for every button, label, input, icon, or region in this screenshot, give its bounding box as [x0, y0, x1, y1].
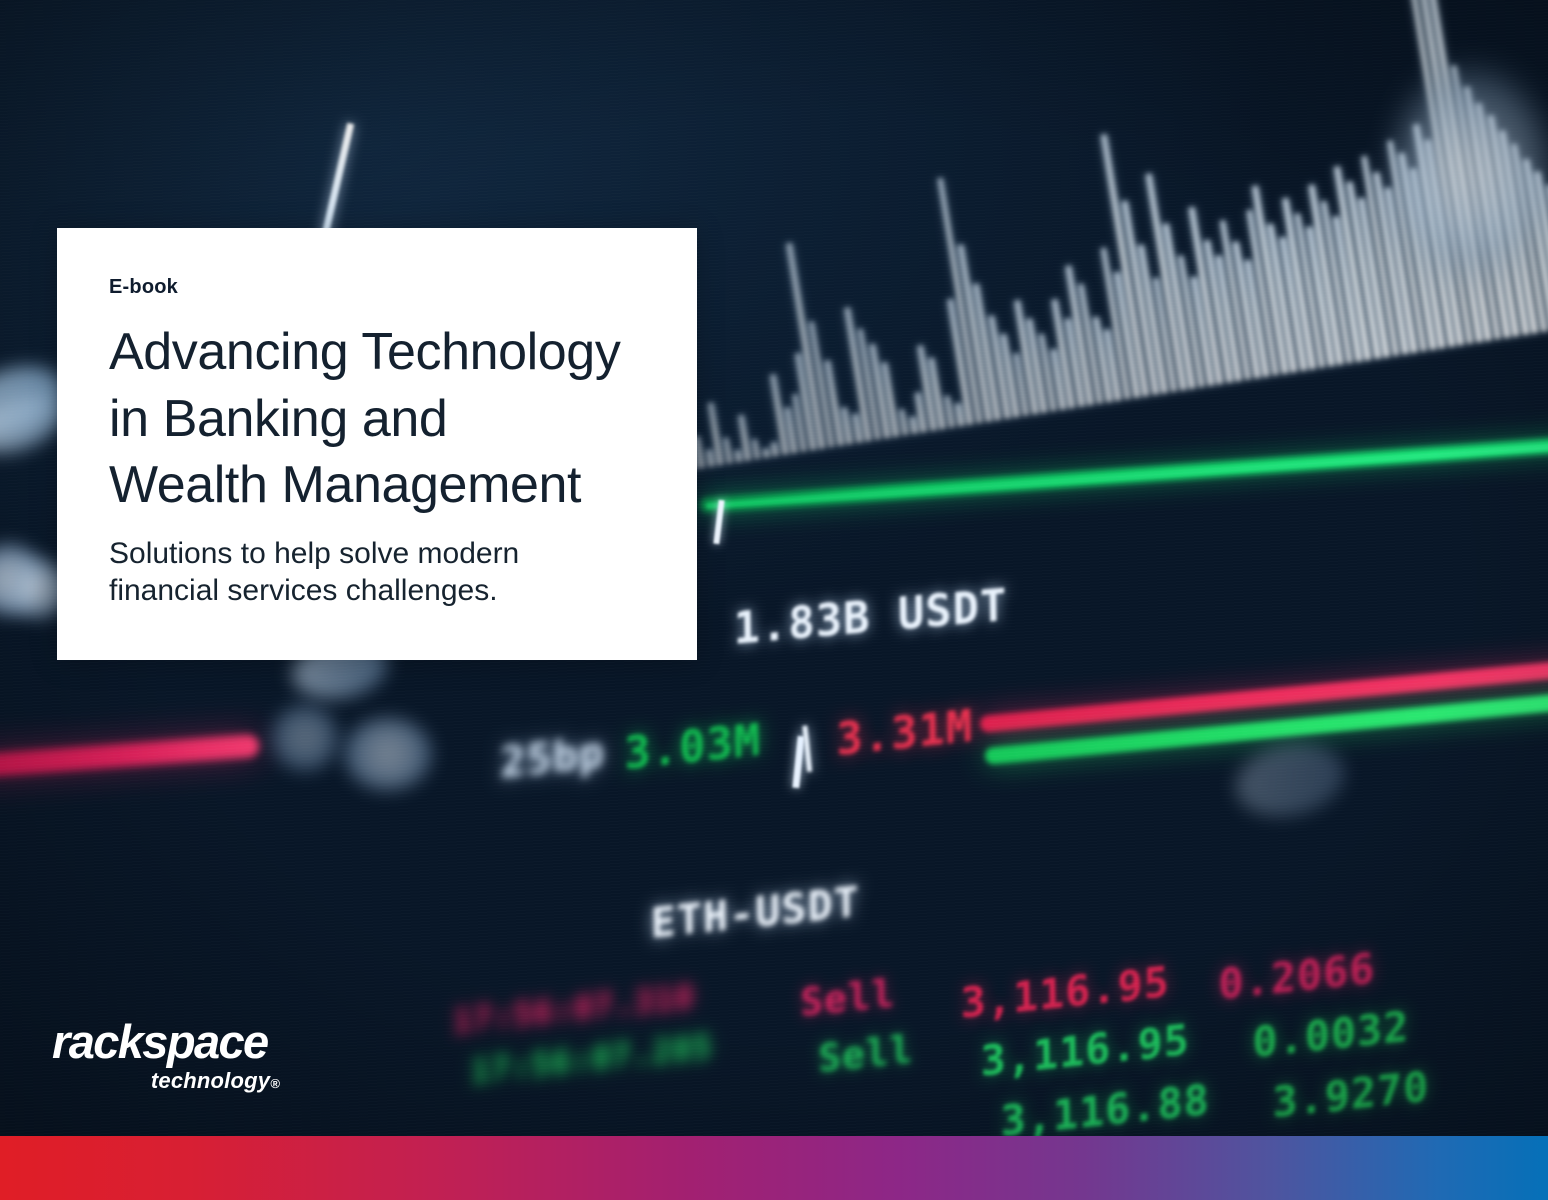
trade-side-green: Sell [818, 1027, 914, 1081]
trade-timestamp-red: 17:56:07.310 [452, 977, 695, 1041]
volume-bar [852, 414, 862, 443]
brand-gradient-bar [0, 1136, 1548, 1200]
page-title-line: Wealth Management [109, 452, 653, 519]
logo-subwordmark: technology® [52, 1070, 282, 1092]
candle-wick-icon [321, 123, 354, 240]
volume-bar [763, 449, 770, 458]
bokeh-blob [1229, 734, 1351, 825]
bokeh-blob [1396, 70, 1546, 270]
volume-bar [734, 450, 742, 462]
page-title-line: in Banking and [109, 386, 653, 453]
ask-size-readout: 3.31M [836, 701, 974, 767]
volume-histogram [615, 0, 1548, 470]
page-subtitle-line: financial services challenges. [109, 572, 653, 610]
total-volume-readout: 1.83B USDT [733, 580, 1008, 655]
volume-bar [841, 407, 853, 445]
title-card: E-book Advancing Technology in Banking a… [57, 228, 697, 660]
pink-bar-left [0, 734, 260, 778]
trade-qty-green-2: 3.9270 [1272, 1062, 1430, 1128]
volume-bar [771, 441, 779, 456]
rackspace-technology-logo: rackspace technology® [52, 1018, 282, 1092]
page-subtitle-line: Solutions to help solve modern [109, 535, 653, 573]
bokeh-blob [272, 705, 338, 771]
trade-timestamp-green: 17:56:07.285 [470, 1027, 713, 1091]
trade-side-red: Sell [800, 971, 896, 1025]
page-title: Advancing Technology in Banking and Weal… [109, 319, 653, 519]
trade-qty-red: 0.2066 [1218, 944, 1376, 1010]
content-type-label: E-book [109, 276, 653, 299]
trade-price-red: 3,116.95 [960, 957, 1170, 1028]
page-title-line: Advancing Technology [109, 319, 653, 386]
logo-subwordmark-text: technology [151, 1068, 270, 1093]
spread-readout: 25bp [500, 727, 605, 787]
volume-bar [899, 409, 909, 436]
ebook-cover: 1.83B USDT 25bp 3.03M | 3.31M ETH-USDT 1… [0, 0, 1548, 1200]
registered-trademark-icon: ® [270, 1076, 280, 1091]
volume-bar [706, 449, 715, 467]
logo-wordmark: rackspace [52, 1018, 282, 1065]
volume-bar [723, 437, 733, 464]
readout-separator: | [790, 717, 824, 774]
volume-bar [944, 396, 955, 428]
trade-qty-green: 0.0032 [1252, 1002, 1410, 1068]
volume-bar [752, 439, 761, 460]
volume-bar [909, 416, 918, 434]
bid-size-readout: 3.03M [624, 715, 762, 781]
volume-bar [955, 403, 964, 427]
trade-price-green: 3,116.95 [980, 1015, 1190, 1086]
page-subtitle: Solutions to help solve modern financial… [109, 535, 653, 611]
trading-pair-label: ETH-USDT [650, 877, 860, 948]
green-trend-line-core [706, 443, 1548, 509]
bokeh-blob [344, 718, 432, 790]
